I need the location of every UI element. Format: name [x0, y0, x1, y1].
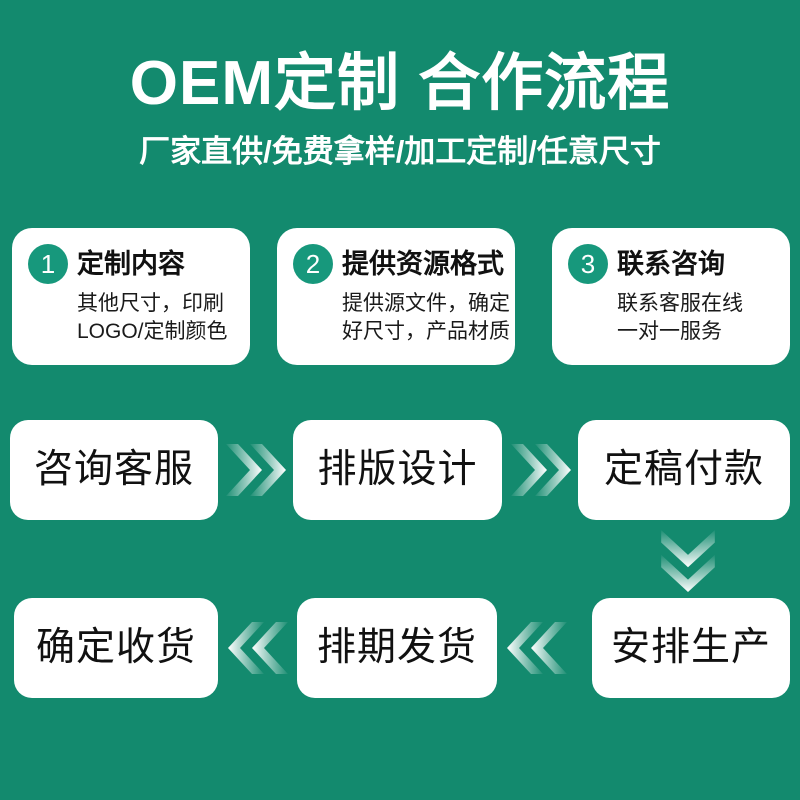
step-card-2-body: 提供源文件，确定 好尺寸，产品材质 — [342, 290, 507, 346]
poster-canvas: OEM定制 合作流程 厂家直供/免费拿样/加工定制/任意尺寸 1 定制内容 其他… — [0, 0, 800, 800]
step-card-2-title: 提供资源格式 — [342, 249, 504, 279]
chevron-right-icon — [509, 438, 573, 502]
step-card-3: 3 联系咨询 联系客服在线 一对一服务 — [552, 228, 790, 365]
flow-step-label: 咨询客服 — [34, 448, 194, 492]
step-card-2-body-line1: 提供源文件，确定 — [342, 290, 507, 318]
step-card-1-body: 其他尺寸，印刷 LOGO/定制颜色 — [77, 290, 242, 346]
step-card-3-body-line2: 一对一服务 — [617, 318, 782, 346]
flow-step-arrange-production: 安排生产 — [592, 598, 790, 698]
flow-step-consult-service: 咨询客服 — [10, 420, 218, 520]
chevron-down-icon — [655, 528, 721, 594]
step-card-2: 2 提供资源格式 提供源文件，确定 好尺寸，产品材质 — [277, 228, 515, 365]
step-card-1-body-line2: LOGO/定制颜色 — [77, 318, 242, 346]
step-card-2-body-line2: 好尺寸，产品材质 — [342, 318, 507, 346]
step-card-1: 1 定制内容 其他尺寸，印刷 LOGO/定制颜色 — [12, 228, 250, 365]
flow-step-label: 排期发货 — [317, 626, 477, 670]
flow-step-label: 安排生产 — [611, 626, 771, 670]
step-card-2-head: 2 提供资源格式 — [293, 244, 504, 284]
step-card-3-body: 联系客服在线 一对一服务 — [617, 290, 782, 346]
step-card-1-head: 1 定制内容 — [28, 244, 185, 284]
flow-step-confirm-receipt: 确定收货 — [14, 598, 218, 698]
flow-step-schedule-shipment: 排期发货 — [297, 598, 497, 698]
step-card-1-title: 定制内容 — [77, 249, 185, 279]
flow-step-label: 定稿付款 — [604, 448, 764, 492]
step-number-badge-1: 1 — [28, 244, 68, 284]
chevron-left-icon — [226, 616, 290, 680]
step-card-3-title: 联系咨询 — [617, 249, 725, 279]
step-card-3-head: 3 联系咨询 — [568, 244, 725, 284]
flow-step-finalize-payment: 定稿付款 — [578, 420, 790, 520]
chevron-left-icon — [505, 616, 569, 680]
flow-step-label: 确定收货 — [36, 626, 196, 670]
flow-step-layout-design: 排版设计 — [293, 420, 502, 520]
header: OEM定制 合作流程 厂家直供/免费拿样/加工定制/任意尺寸 — [0, 0, 800, 200]
page-subtitle: 厂家直供/免费拿样/加工定制/任意尺寸 — [0, 132, 800, 172]
step-number-badge-3: 3 — [568, 244, 608, 284]
step-card-3-body-line1: 联系客服在线 — [617, 290, 782, 318]
step-card-1-body-line1: 其他尺寸，印刷 — [77, 290, 242, 318]
chevron-right-icon — [224, 438, 288, 502]
flow-step-label: 排版设计 — [317, 448, 477, 492]
step-number-badge-2: 2 — [293, 244, 333, 284]
page-title: OEM定制 合作流程 — [0, 48, 800, 120]
